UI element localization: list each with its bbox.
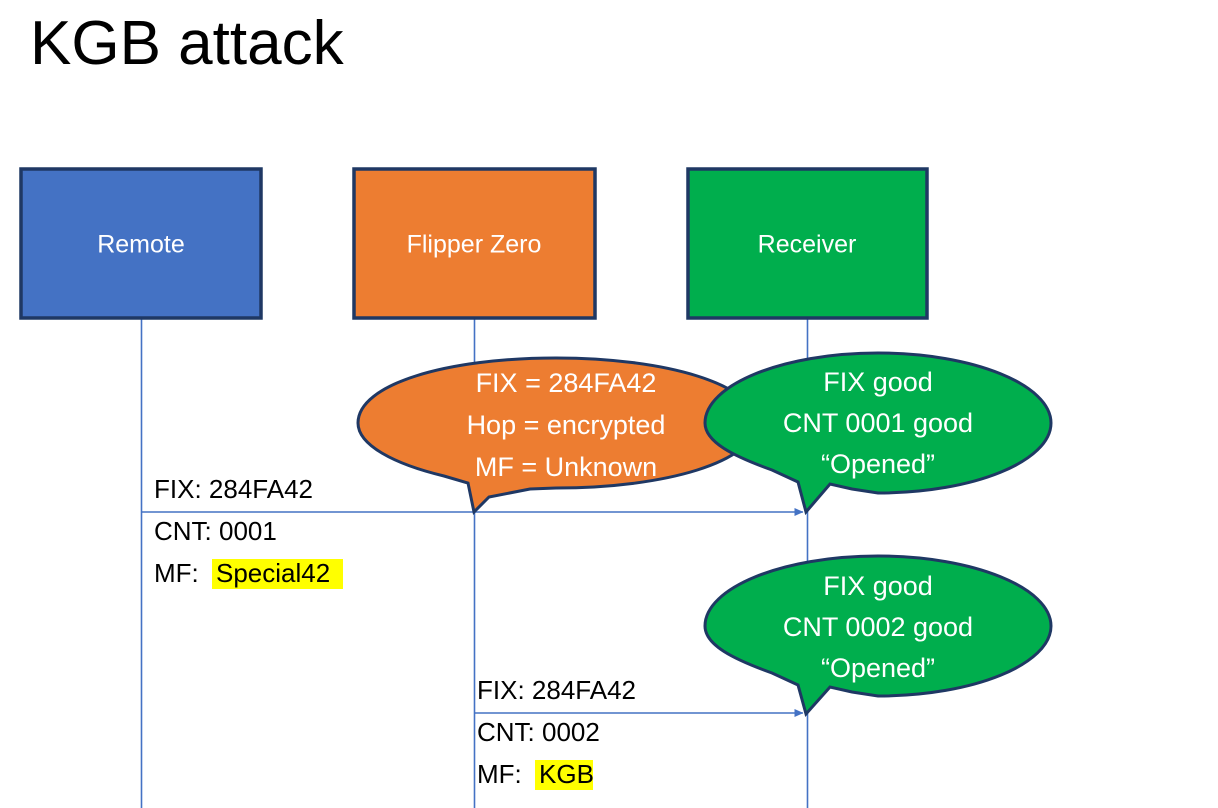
callout-flipper-capture-line-2: Hop = encrypted	[467, 410, 666, 440]
message-2-line-1: FIX: 284FA42	[477, 675, 636, 705]
callout-flipper-capture[interactable]: FIX = 284FA42 Hop = encrypted MF = Unkno…	[358, 358, 756, 512]
message-1-line-1: FIX: 284FA42	[154, 474, 313, 504]
actor-box-flipper-label: Flipper Zero	[407, 231, 542, 259]
callout-receiver-ack-1-line-3: “Opened”	[821, 449, 935, 479]
callout-receiver-ack-2-line-1: FIX good	[823, 571, 933, 601]
callout-receiver-ack-1-line-1: FIX good	[823, 367, 933, 397]
message-label-flipper-to-receiver: FIX: 284FA42 CNT: 0002 MF: KGB	[477, 675, 636, 790]
sequence-diagram: Remote Flipper Zero Receiver FIX = 284FA…	[0, 0, 1218, 808]
actor-box-receiver-label: Receiver	[758, 231, 857, 259]
actor-box-flipper[interactable]: Flipper Zero	[354, 169, 595, 318]
callout-flipper-capture-line-3: MF = Unknown	[475, 452, 657, 482]
actor-box-remote[interactable]: Remote	[21, 169, 261, 318]
callout-flipper-capture-line-1: FIX = 284FA42	[476, 368, 657, 398]
message-1-line-3-prefix: MF:	[154, 558, 199, 588]
slide-canvas: KGB attack Remote Flipper Z	[0, 0, 1218, 808]
callout-receiver-ack-2-line-2: CNT 0002 good	[783, 612, 973, 642]
callout-receiver-ack-2-line-3: “Opened”	[821, 653, 935, 683]
callout-receiver-ack-1[interactable]: FIX good CNT 0001 good “Opened”	[705, 353, 1051, 512]
message-label-remote-to-receiver: FIX: 284FA42 CNT: 0001 MF: Special42	[154, 474, 343, 589]
message-2-line-3-value: KGB	[539, 759, 594, 789]
callout-receiver-ack-1-line-2: CNT 0001 good	[783, 408, 973, 438]
message-2-line-2: CNT: 0002	[477, 717, 600, 747]
message-1-line-2: CNT: 0001	[154, 516, 277, 546]
actor-box-receiver[interactable]: Receiver	[688, 169, 927, 318]
callout-receiver-ack-2[interactable]: FIX good CNT 0002 good “Opened”	[705, 556, 1051, 714]
message-1-line-3-value: Special42	[216, 558, 330, 588]
actor-box-remote-label: Remote	[97, 231, 185, 259]
message-2-line-3-prefix: MF:	[477, 759, 522, 789]
